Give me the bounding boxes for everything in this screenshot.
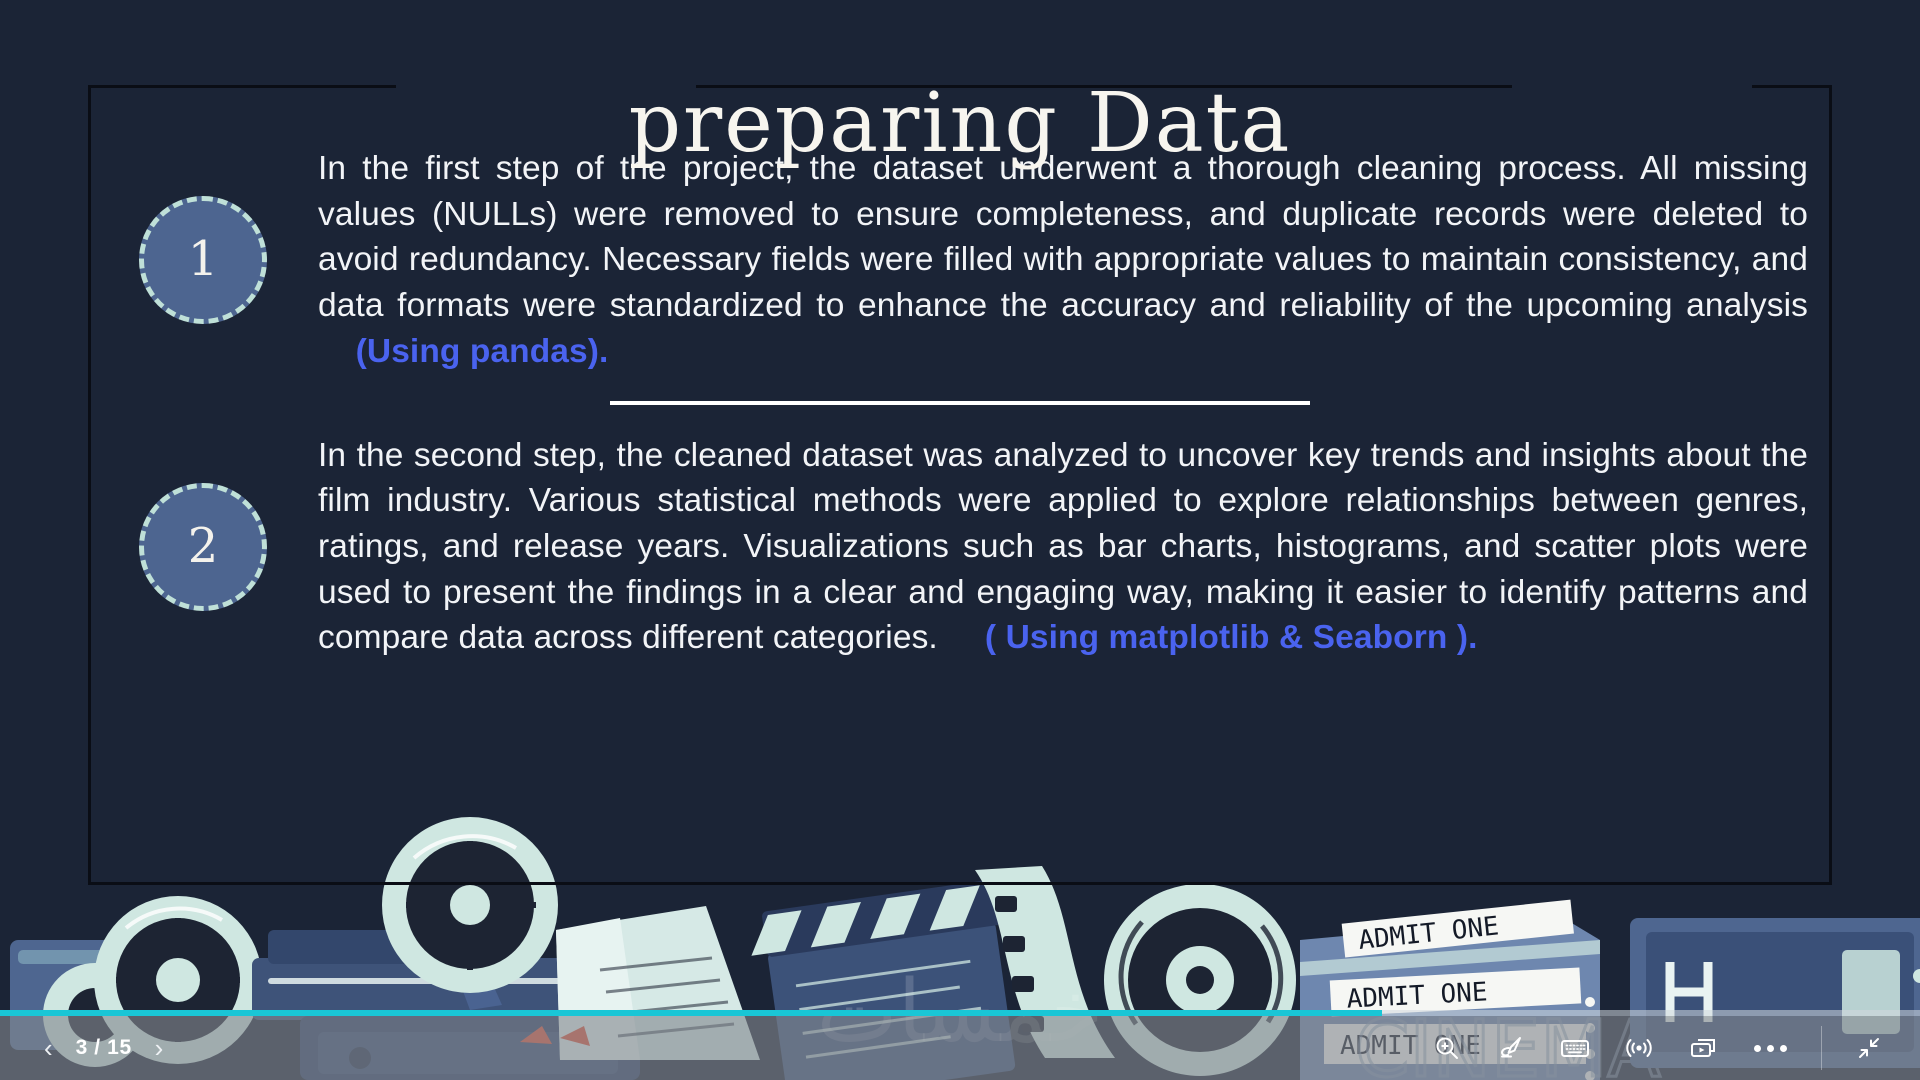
step-number-badge-2: 2 <box>139 483 267 611</box>
zoom-in-icon[interactable] <box>1430 1031 1464 1065</box>
slide-content: 1 In the first step of the project, the … <box>88 140 1832 661</box>
toolbar-separator <box>1821 1026 1822 1070</box>
laser-pointer-icon[interactable] <box>1622 1031 1656 1065</box>
step-paragraph-2: In the second step, the cleaned dataset … <box>318 433 1832 662</box>
step-accent-dot-1: . <box>599 333 608 370</box>
keyboard-icon[interactable] <box>1558 1031 1592 1065</box>
ticket-label-1: ADMIT ONE <box>1357 911 1500 956</box>
step-body-text-1: In the first step of the project, the da… <box>318 150 1808 324</box>
exit-fullscreen-icon[interactable] <box>1852 1031 1886 1065</box>
slide-viewer: ADMIT ONE ADMIT ONE ADMIT ONE <box>0 0 1920 1080</box>
step-number-label-1: 1 <box>188 235 219 283</box>
prev-slide-button[interactable]: ‹ <box>40 1033 57 1063</box>
page-title: preparing Data <box>0 83 1920 165</box>
step-number-badge-1: 1 <box>139 196 267 324</box>
pen-annotate-icon[interactable] <box>1494 1031 1528 1065</box>
progress-track[interactable] <box>0 1010 1920 1016</box>
section-divider-wrap <box>88 401 1832 405</box>
navigation-group: ‹ 3 / 15 › <box>40 1033 167 1063</box>
section-divider <box>610 401 1310 405</box>
page-indicator: 3 / 15 <box>75 1036 133 1060</box>
present-screen-icon[interactable] <box>1686 1031 1720 1065</box>
step-accent-dot-2: . <box>1468 619 1477 656</box>
step-item-1: 1 In the first step of the project, the … <box>88 146 1832 375</box>
step-number-label-2: 2 <box>188 522 219 570</box>
step-accent-2: ( Using matplotlib & Seaborn ) <box>985 619 1468 656</box>
progress-fill <box>0 1010 1382 1016</box>
badge-column-2: 2 <box>88 483 318 611</box>
toolbar-group <box>1430 1026 1886 1070</box>
badge-column-1: 1 <box>88 196 318 324</box>
step-paragraph-1: In the first step of the project, the da… <box>318 146 1832 375</box>
step-item-2: 2 In the second step, the cleaned datase… <box>88 433 1832 662</box>
step-accent-1: (Using pandas) <box>356 333 599 370</box>
next-slide-button[interactable]: › <box>151 1033 168 1063</box>
presentation-controlbar: ‹ 3 / 15 › <box>0 1016 1920 1080</box>
more-options-icon[interactable] <box>1750 1045 1791 1052</box>
